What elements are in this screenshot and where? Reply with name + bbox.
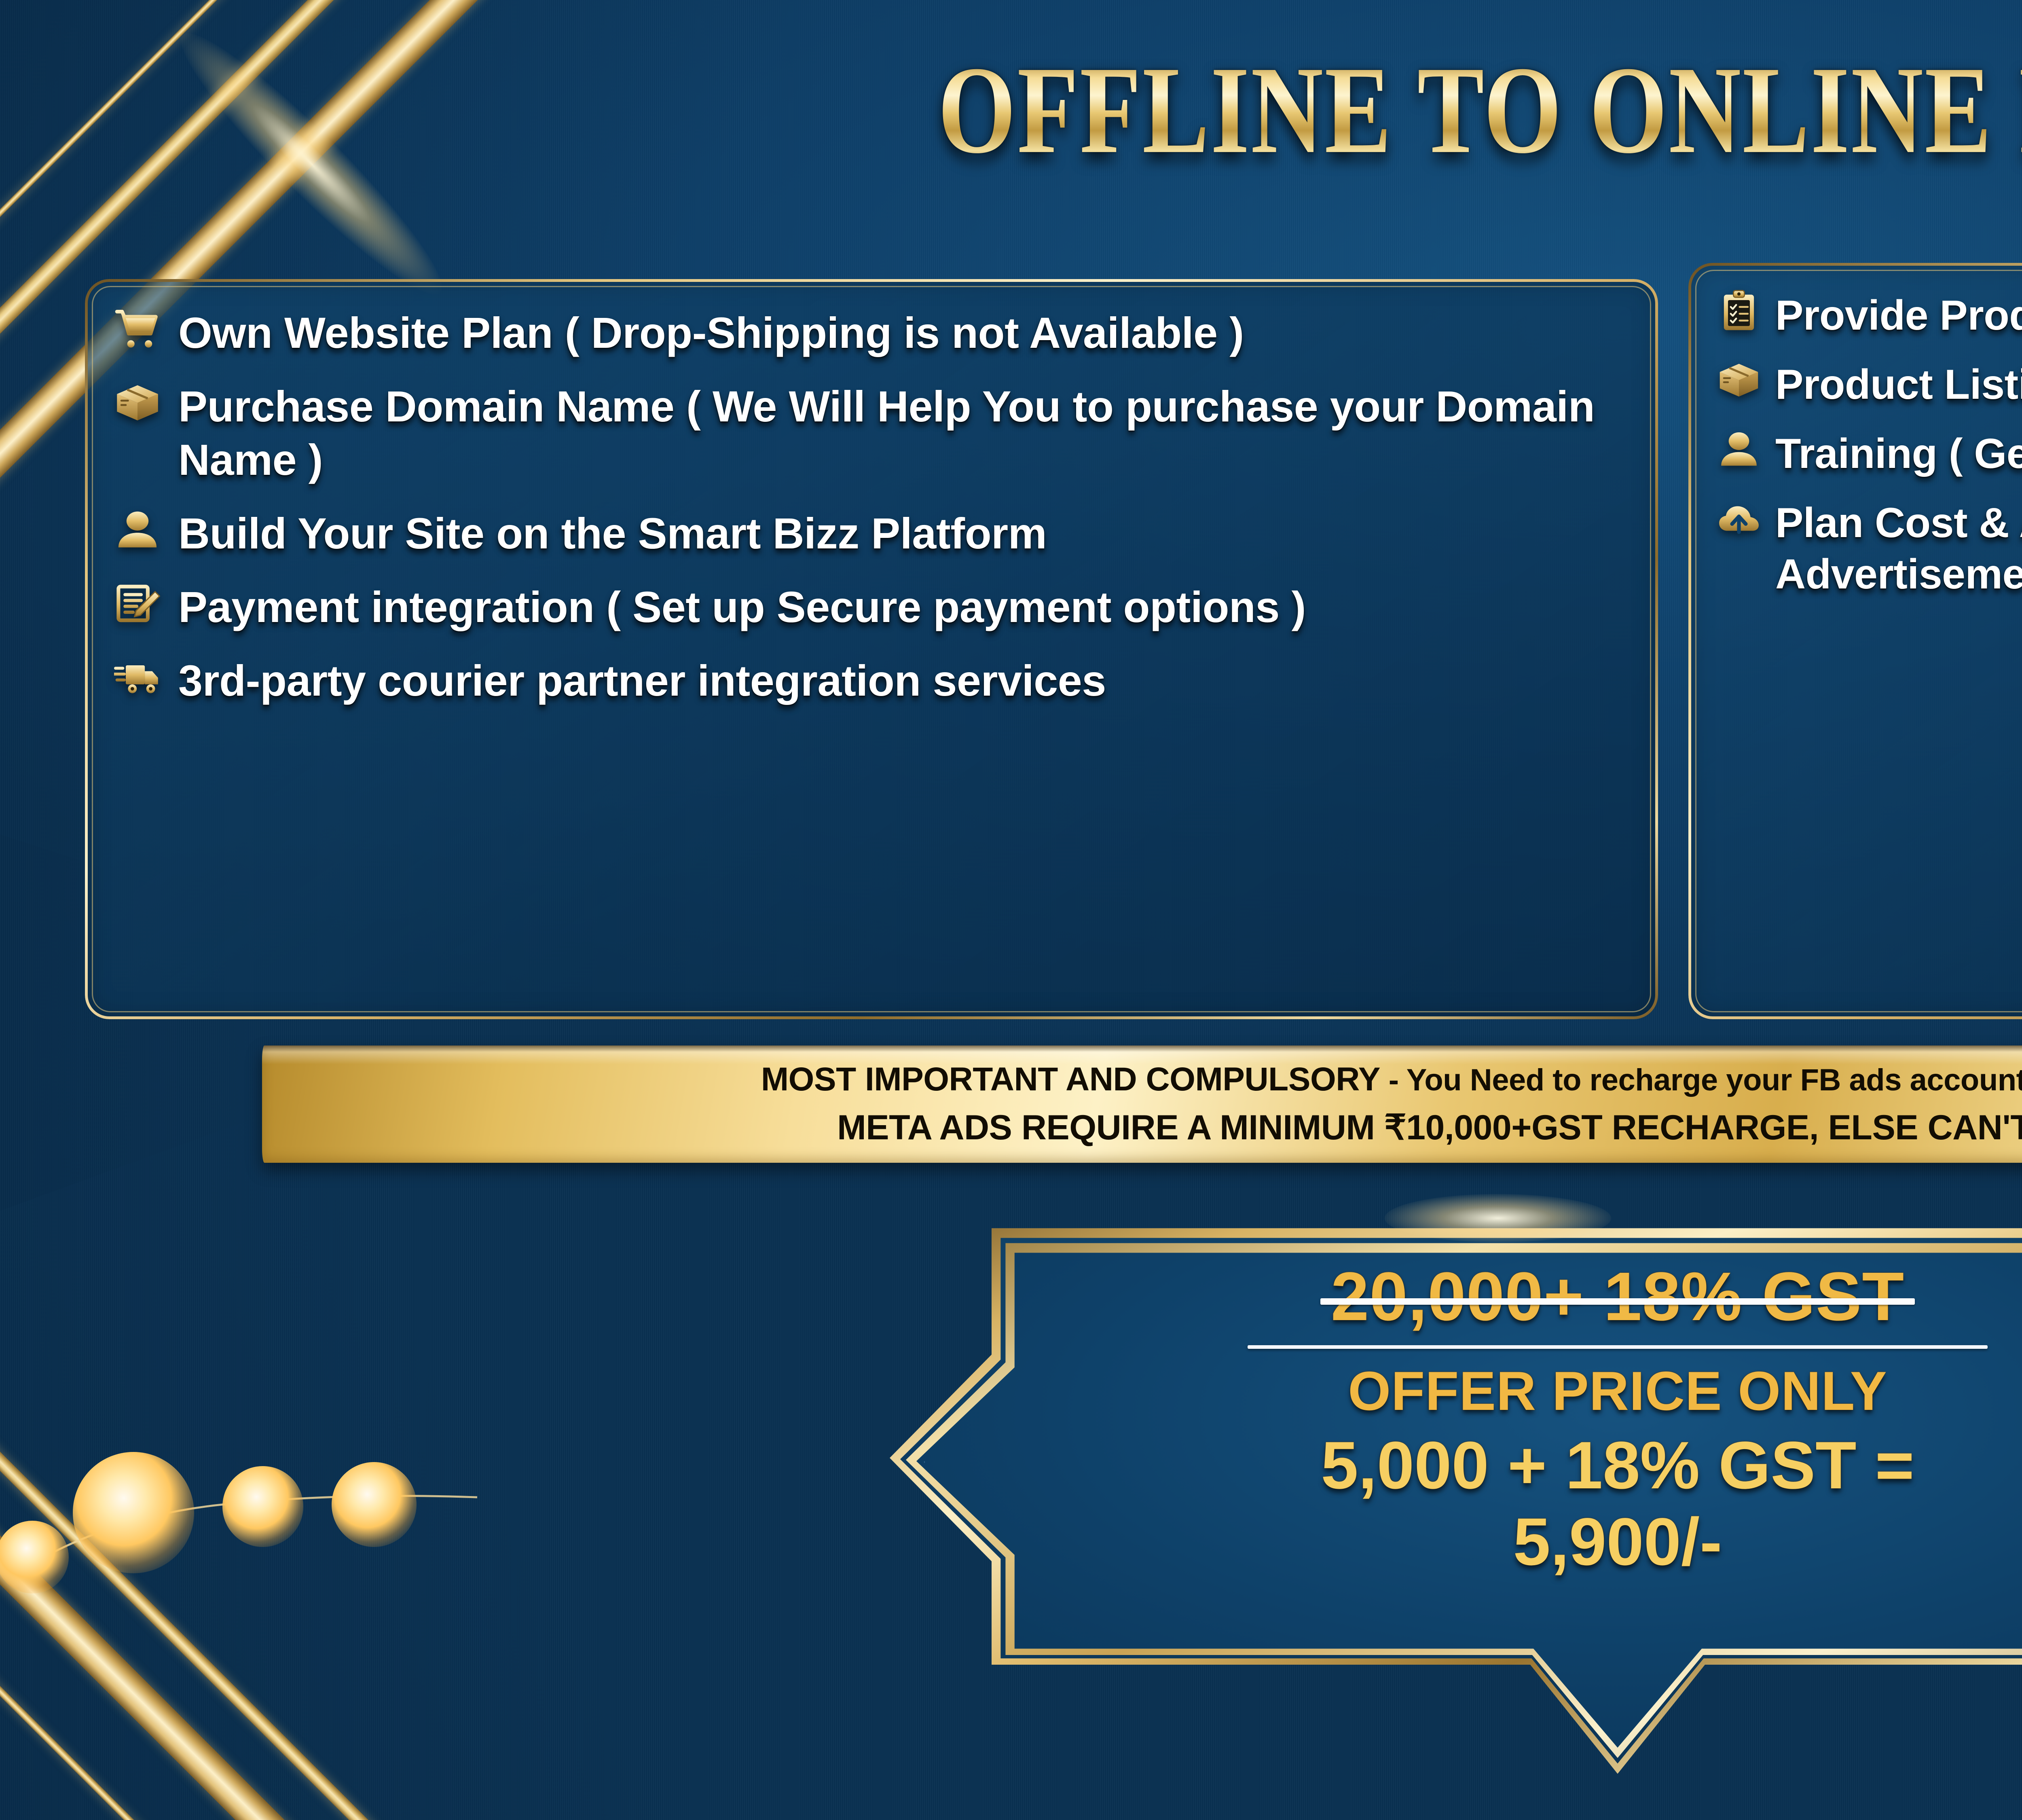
badge-content: 20,000+ 18% GST OFFER PRICE ONLY 5,000 +… [890,1257,2022,1580]
list-item-label: Product Listing ( We will List 20 produc… [1775,357,2022,411]
compulsory-notice-banner: MOST IMPORTANT AND COMPULSORY - You Need… [262,1045,2022,1163]
original-price: 20,000+ 18% GST [1331,1257,1904,1336]
notice-line-1-strong: MOST IMPORTANT AND COMPULSORY [761,1061,1380,1098]
cloud-upload-icon [1711,490,1767,547]
list-item-label: Training ( Get training for adding more … [1775,426,2022,480]
notice-line-1: MOST IMPORTANT AND COMPULSORY - You Need… [761,1060,2022,1098]
package-box-icon [1711,352,1767,408]
glow-orb [73,1452,194,1573]
offer-price-label: OFFER PRICE ONLY [890,1359,2022,1422]
list-item: Training ( Get training for adding more … [1711,426,2022,480]
gold-stripe-bottom-left-3 [0,1305,768,1820]
offer-price-value: 5,000 + 18% GST = 5,900/- [890,1427,2022,1580]
glow-orb [0,1521,69,1594]
list-item-label: Purchase Domain Name ( We Will Help You … [178,377,1631,487]
right-feature-list: Provide Product Info ( Client provides p… [1691,266,2022,631]
right-feature-panel: Provide Product Info ( Client provides p… [1688,263,2022,1019]
list-item: Product Listing ( We will List 20 produc… [1711,357,2022,411]
gold-stripe-bottom-left-1 [0,1310,690,1820]
clipboard-checklist-icon [1711,283,1767,339]
document-pen-icon [107,573,168,634]
list-item: Provide Product Info ( Client provides p… [1711,288,2022,341]
offer-price-line-2: 5,900/- [1513,1505,1722,1579]
list-item-label: Provide Product Info ( Client provides p… [1775,288,2022,341]
person-icon [107,499,168,560]
list-item: 3rd-party courier partner integration se… [107,652,1631,707]
glowing-orb-string [12,1383,538,1594]
list-item: Purchase Domain Name ( We Will Help You … [107,377,1631,487]
list-item-label: 3rd-party courier partner integration se… [178,652,1106,707]
shopping-cart-icon [107,299,168,360]
list-item: Payment integration ( Set up Secure paym… [107,578,1631,634]
left-feature-list: Own Website Plan ( Drop-Shipping is not … [88,282,1655,724]
left-feature-panel: Own Website Plan ( Drop-Shipping is not … [85,279,1658,1019]
list-item-label: Plan Cost & Ads ( 5,000+ tax ( Plan Fee … [1775,495,2022,600]
page-title: OFFLINE TO ONLINE PLAN [324,48,2022,173]
list-item-label: Payment integration ( Set up Secure paym… [178,578,1306,634]
delivery-truck-icon [107,647,168,707]
list-item: Plan Cost & Ads ( 5,000+ tax ( Plan Fee … [1711,495,2022,600]
person-icon [1711,421,1767,478]
strikethrough-line [1320,1298,1915,1305]
glow-orb [332,1462,417,1547]
poster-canvas: OFFLINE TO ONLINE PLAN Own Website Pl [0,0,2022,1820]
badge-divider-line [1248,1345,1988,1349]
offer-price-line-1: 5,000 + 18% GST = [1321,1428,1914,1503]
original-price-value: 20,000+ 18% GST [1331,1258,1904,1335]
notice-line-1-rest: - You Need to recharge your FB ads accou… [1380,1063,2022,1097]
list-item-label: Build Your Site on the Smart Bizz Platfo… [178,504,1047,560]
notice-line-2: META ADS REQUIRE A MINIMUM ₹10,000+GST R… [837,1107,2022,1148]
list-item: Own Website Plan ( Drop-Shipping is not … [107,304,1631,360]
price-badge: 20,000+ 18% GST OFFER PRICE ONLY 5,000 +… [890,1205,2022,1780]
list-item: Build Your Site on the Smart Bizz Platfo… [107,504,1631,560]
gold-stripe-bottom-left-2 [0,1335,565,1820]
glow-orb [222,1466,303,1547]
package-box-icon [107,372,168,433]
list-item-label: Own Website Plan ( Drop-Shipping is not … [178,304,1244,360]
